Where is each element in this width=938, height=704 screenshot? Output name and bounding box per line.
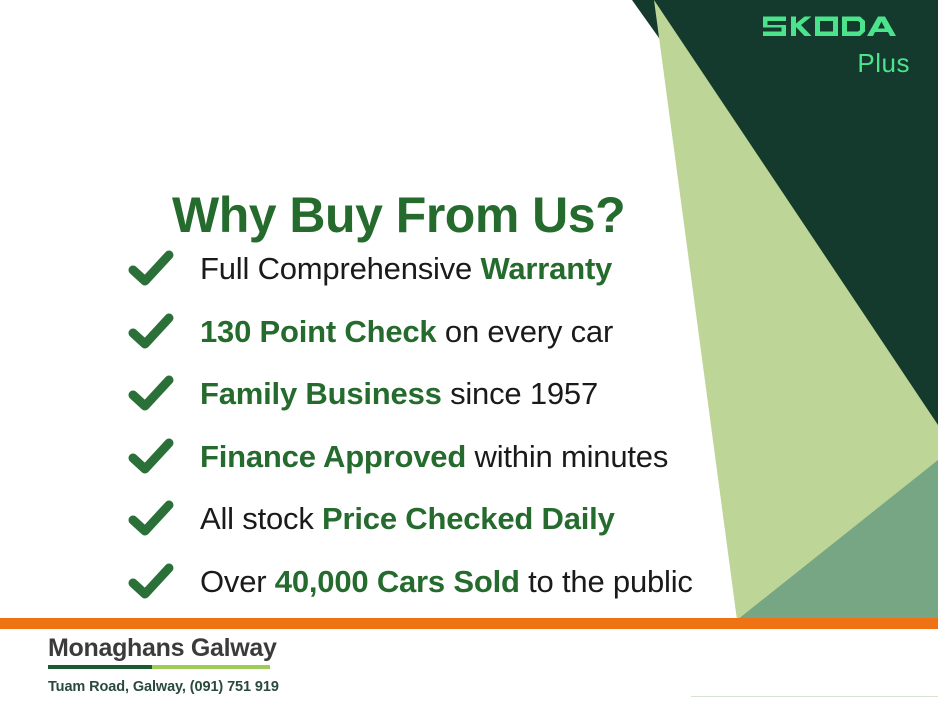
skoda-wordmark-glyphs (762, 12, 912, 44)
benefit-text-emphasis: Finance Approved (200, 439, 466, 474)
check-icon (128, 562, 174, 602)
page-title: Why Buy From Us? (172, 186, 625, 244)
list-item: Full Comprehensive Warranty (128, 238, 693, 301)
list-item-label: Finance Approved within minutes (200, 440, 668, 474)
medium-green-wedge (737, 250, 938, 618)
dealer-footer: Monaghans Galway Tuam Road, Galway, (091… (48, 634, 279, 695)
benefit-text-plain: Full Comprehensive (200, 251, 480, 286)
benefit-text-emphasis: Warranty (480, 251, 612, 286)
skoda-wordmark (692, 12, 912, 44)
benefits-list: Full Comprehensive Warranty 130 Point Ch… (128, 238, 693, 613)
list-item: Family Business since 1957 (128, 363, 693, 426)
list-item: Finance Approved within minutes (128, 426, 693, 489)
check-icon (128, 312, 174, 352)
benefit-text-plain: within minutes (466, 439, 668, 474)
benefit-text-plain: on every car (436, 314, 613, 349)
benefit-text-emphasis: Family Business (200, 376, 442, 411)
list-item-label: Full Comprehensive Warranty (200, 252, 612, 286)
benefit-text-emphasis: Price Checked Daily (322, 501, 615, 536)
dealer-name: Monaghans Galway (48, 634, 279, 663)
benefit-text-plain: to the public (520, 564, 693, 599)
benefit-text-plain: All stock (200, 501, 322, 536)
bottom-hairline (691, 696, 938, 697)
check-icon (128, 374, 174, 414)
list-item-label: Family Business since 1957 (200, 377, 598, 411)
light-green-fan (654, 0, 938, 620)
benefit-text-emphasis: 40,000 Cars Sold (275, 564, 520, 599)
list-item-label: Over 40,000 Cars Sold to the public (200, 565, 693, 599)
list-item: 130 Point Check on every car (128, 301, 693, 364)
dealer-address: Tuam Road, Galway, (091) 751 919 (48, 679, 279, 695)
skoda-plus-logo: Plus (692, 12, 912, 79)
check-icon (128, 437, 174, 477)
dealer-underline-left (48, 665, 152, 669)
dealer-underline-right (152, 665, 270, 669)
check-icon (128, 499, 174, 539)
dealer-underline (48, 665, 270, 669)
list-item: Over 40,000 Cars Sold to the public (128, 551, 693, 614)
check-icon (128, 249, 174, 289)
benefit-text-plain: Over (200, 564, 275, 599)
list-item-label: 130 Point Check on every car (200, 315, 613, 349)
benefit-text-emphasis: 130 Point Check (200, 314, 436, 349)
skoda-plus-label: Plus (692, 48, 910, 79)
benefit-text-plain: since 1957 (442, 376, 598, 411)
orange-divider (0, 618, 938, 629)
promo-slide: Plus Why Buy From Us? Full Comprehensive… (0, 0, 938, 704)
list-item-label: All stock Price Checked Daily (200, 502, 615, 536)
list-item: All stock Price Checked Daily (128, 488, 693, 551)
